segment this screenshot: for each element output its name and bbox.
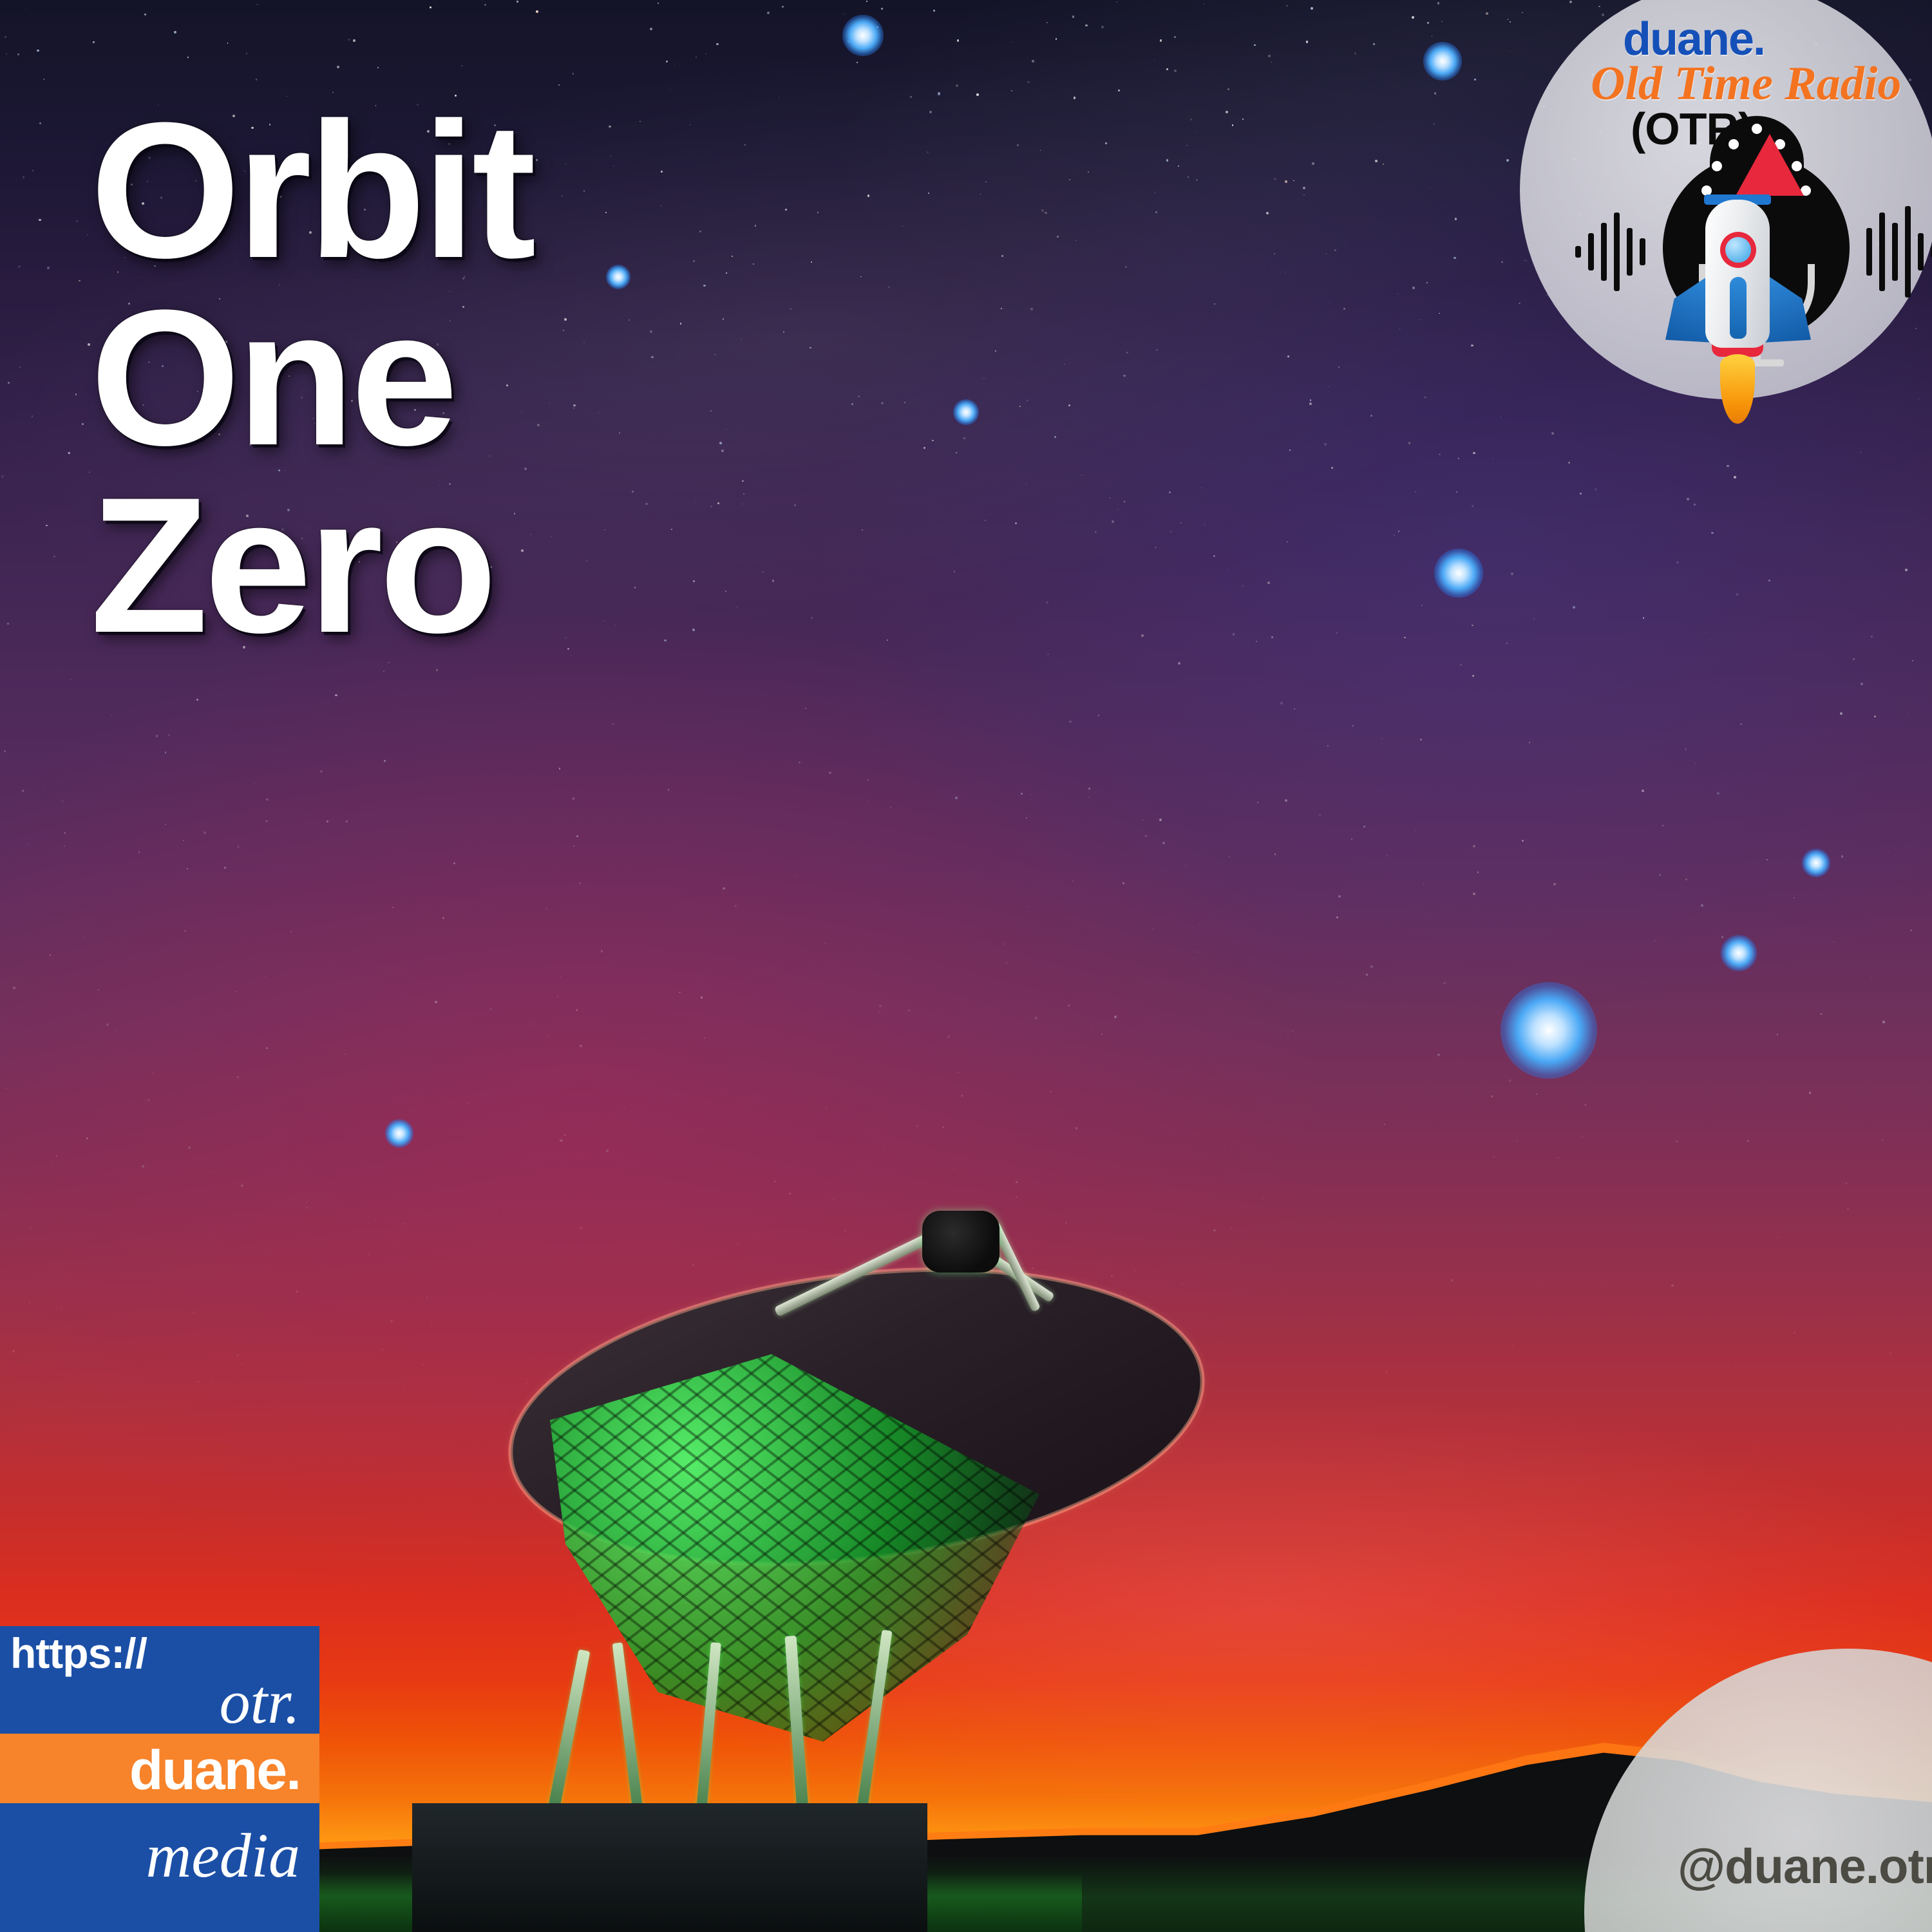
- waveform-bar-icon: [1575, 246, 1581, 258]
- url-domain-text: duane.: [129, 1739, 300, 1803]
- url-subdomain-text: otr.: [220, 1666, 300, 1738]
- url-scheme-text: https://: [10, 1629, 147, 1678]
- sparkle-dot-icon: [1752, 124, 1762, 134]
- waveform-bar-icon: [1640, 238, 1645, 265]
- rocket-center-blade-icon: [1730, 277, 1747, 339]
- url-band-tld: media: [0, 1803, 319, 1932]
- rocket-nose-cone-icon: [1736, 134, 1804, 196]
- brand-logo-inner: duane. Old Time Radio (OTR): [1539, 6, 1926, 393]
- podcast-cover-art: Orbit One Zero duane. Old Time Radio (OT…: [0, 0, 1932, 1932]
- url-band-scheme: https:// otr.: [0, 1626, 319, 1734]
- dish-base-platform: [412, 1803, 927, 1932]
- waveform-bar-icon: [1905, 206, 1911, 298]
- waveform-bar-icon: [1627, 228, 1633, 276]
- waveform-bar-icon: [1879, 213, 1885, 291]
- website-url-badge[interactable]: https:// otr. duane. media: [0, 1626, 319, 1932]
- waveform-bar-icon: [1614, 213, 1620, 291]
- page-title: Orbit One Zero: [90, 97, 533, 659]
- url-tld-text: media: [146, 1820, 301, 1892]
- waveform-bar-icon: [1866, 228, 1872, 276]
- rocket-porthole-glass-icon: [1725, 237, 1751, 263]
- waveform-bar-icon: [1892, 223, 1898, 281]
- social-handle-text: @duane.otr: [1678, 1839, 1932, 1895]
- brand-logo-badge[interactable]: duane. Old Time Radio (OTR): [1520, 0, 1932, 399]
- url-band-domain: duane.: [0, 1734, 319, 1803]
- waveform-bar-icon: [1588, 233, 1594, 270]
- dish-feed-horn: [922, 1211, 999, 1273]
- waveform-bar-icon: [1601, 223, 1607, 281]
- sparkle-dot-icon: [1712, 161, 1722, 171]
- waveform-bar-icon: [1918, 233, 1924, 270]
- radio-telescope-dish: [489, 1198, 1249, 1932]
